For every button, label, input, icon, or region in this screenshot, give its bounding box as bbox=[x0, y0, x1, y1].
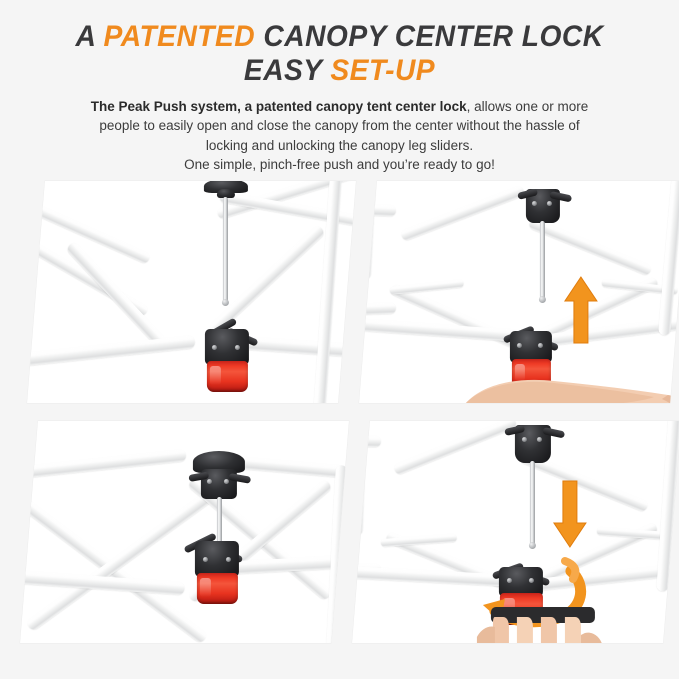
headline-line2-prefix: EASY bbox=[244, 54, 330, 87]
description-line-3: locking and unlocking the canopy leg sli… bbox=[40, 136, 640, 155]
frame-tube bbox=[25, 487, 218, 632]
panel-top-left-scene bbox=[27, 181, 356, 403]
arrow-up-icon bbox=[564, 275, 598, 350]
frame-tube bbox=[400, 185, 525, 242]
frame-tube bbox=[20, 449, 186, 481]
frame-tube bbox=[359, 303, 396, 316]
hub-bolt bbox=[224, 479, 229, 484]
frame-tube bbox=[393, 421, 518, 476]
red-push-hub bbox=[197, 573, 238, 604]
hub-bolt bbox=[203, 557, 208, 562]
frame-tube bbox=[359, 203, 396, 216]
frame-leg-tube bbox=[359, 181, 377, 280]
hub-bolt bbox=[522, 437, 527, 442]
description-line1-rest: , allows one or more bbox=[467, 99, 589, 114]
arrow-down-icon bbox=[553, 477, 587, 554]
hub-bolt bbox=[547, 201, 552, 206]
hub-bolt bbox=[212, 345, 217, 350]
description-line-1: The Peak Push system, a patented canopy … bbox=[40, 97, 640, 116]
hub-bolt bbox=[532, 201, 537, 206]
panel-top-right-scene bbox=[359, 181, 679, 403]
page-title: A PATENTED CANOPY CENTER LOCK EASY SET-U… bbox=[20, 0, 658, 87]
product-feature-page: A PATENTED CANOPY CENTER LOCK EASY SET-U… bbox=[0, 0, 679, 679]
description-paragraph: The Peak Push system, a patented canopy … bbox=[40, 97, 640, 174]
hub-bolt bbox=[226, 557, 231, 562]
description-bold-lead: The Peak Push system, a patented canopy … bbox=[91, 99, 467, 114]
frame-leg-tube bbox=[352, 421, 367, 535]
center-push-rod bbox=[217, 497, 222, 545]
headline-line-2: EASY SET-UP bbox=[20, 54, 658, 88]
red-push-hub bbox=[207, 361, 248, 392]
center-push-rod bbox=[530, 461, 535, 545]
headline-line1-suffix: CANOPY CENTER LOCK bbox=[255, 20, 603, 53]
hub-bolt bbox=[207, 479, 212, 484]
headline-line1-prefix: A bbox=[75, 20, 103, 53]
description-line-2: people to easily open and close the cano… bbox=[40, 116, 640, 135]
hub-bolt bbox=[235, 345, 240, 350]
panel-bottom-right-scene bbox=[352, 421, 679, 643]
headline-highlight-patented: PATENTED bbox=[104, 20, 256, 53]
headline-line-1: A PATENTED CANOPY CENTER LOCK bbox=[20, 20, 658, 54]
panel-top-left bbox=[27, 181, 356, 403]
frame-leg-tube bbox=[326, 465, 348, 643]
frame-leg-tube bbox=[656, 421, 679, 592]
push-rod-tip bbox=[222, 299, 229, 306]
center-push-rod bbox=[540, 221, 545, 299]
panel-bottom-right bbox=[352, 421, 679, 643]
frame-tube bbox=[66, 241, 170, 352]
center-lock-hub bbox=[195, 541, 239, 577]
frame-tube bbox=[528, 217, 653, 276]
center-push-rod bbox=[223, 197, 228, 302]
hub-bolt bbox=[538, 343, 543, 348]
frame-leg-tube bbox=[658, 181, 679, 336]
frame-tube bbox=[27, 335, 195, 368]
panel-top-right bbox=[359, 181, 679, 403]
frame-tube bbox=[359, 317, 524, 342]
frame-tube bbox=[352, 435, 381, 447]
frame-tube bbox=[390, 279, 464, 295]
hub-bolt bbox=[517, 343, 522, 348]
hands-twisting-hub bbox=[473, 607, 613, 643]
hub-bolt bbox=[537, 437, 542, 442]
product-image-grid bbox=[0, 181, 679, 661]
push-rod-tip bbox=[529, 542, 536, 549]
headline-highlight-setup: SET-UP bbox=[330, 54, 435, 87]
panel-bottom-left-scene bbox=[20, 421, 349, 643]
description-line-4: One simple, pinch-free push and you’re r… bbox=[40, 155, 640, 174]
push-rod-tip bbox=[539, 296, 546, 303]
hand-supporting-hub bbox=[462, 373, 679, 403]
panel-bottom-left bbox=[20, 421, 349, 643]
